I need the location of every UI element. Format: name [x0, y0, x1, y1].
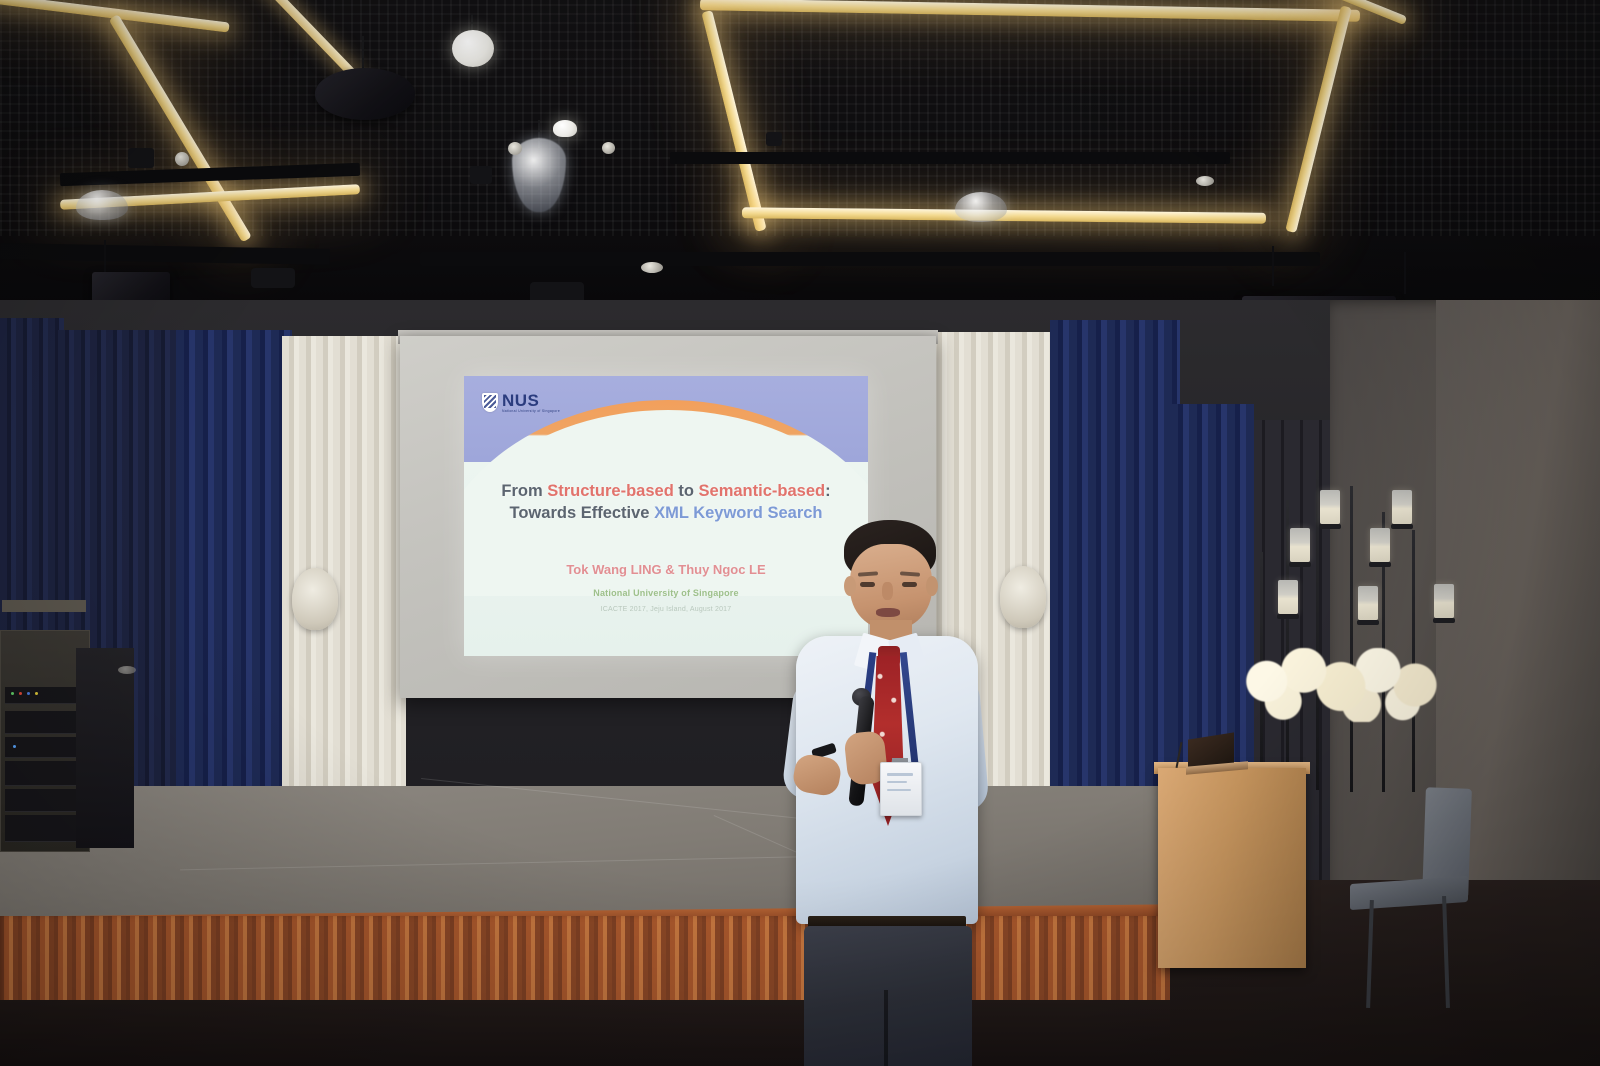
- rack-unit: [5, 761, 81, 786]
- spotlight-lens: [175, 152, 189, 166]
- candelabra-stem: [1286, 500, 1289, 790]
- presenter-ear: [926, 576, 938, 596]
- spotlight-lens: [641, 262, 663, 273]
- stage-spotlight: [470, 166, 492, 184]
- candelabra-glass-cylinder: [1434, 584, 1454, 618]
- presenter-ear: [844, 576, 856, 596]
- speaker-pod-rod: [362, 36, 364, 72]
- candelabra-cup: [1433, 618, 1455, 623]
- spotlight-lens: [602, 142, 615, 154]
- trouser-leg-seam: [884, 990, 888, 1066]
- curtain-tieback-right: [1000, 566, 1046, 628]
- crystal-dome-light: [76, 190, 128, 220]
- candelabra-cup: [1319, 524, 1341, 529]
- presenter-mouth: [876, 608, 900, 617]
- slide-title: From Structure-based to Semantic-based: …: [464, 480, 868, 525]
- badge-text-line: [887, 781, 907, 783]
- nus-sublabel: National University of Singapore: [502, 409, 560, 413]
- title-from: From: [501, 482, 547, 500]
- rack-top-shelf: [2, 600, 86, 612]
- rack-unit: [5, 789, 81, 812]
- nus-shield-icon: [482, 393, 498, 412]
- candelabra-cup: [1391, 524, 1413, 529]
- stage-spotlight: [766, 132, 782, 146]
- status-led: [13, 745, 16, 748]
- stage-spotlight: [251, 268, 295, 288]
- candelabra-glass-cylinder: [1392, 490, 1412, 524]
- badge-text-line: [887, 773, 913, 776]
- rack-unit: [5, 815, 81, 842]
- crystal-dome-light: [955, 192, 1007, 222]
- candelabra-cup: [1289, 562, 1311, 567]
- presenter-eye: [902, 582, 917, 587]
- candelabra-cup: [1369, 562, 1391, 567]
- rigging-wire: [104, 240, 106, 274]
- spotlight-lens: [508, 142, 522, 155]
- title-semantic-based: Semantic-based: [699, 482, 826, 500]
- title-to: to: [674, 482, 699, 500]
- cabinet-label: [118, 666, 136, 674]
- curtain-blue-right: [1050, 320, 1180, 820]
- badge-text-line: [887, 789, 911, 791]
- title-structure-based: Structure-based: [547, 482, 674, 500]
- ceiling-speaker-pod: [315, 68, 415, 120]
- nus-wordmark: NUS: [502, 392, 560, 409]
- presenter: [788, 520, 984, 1066]
- curtain-tieback-left: [292, 568, 338, 630]
- stage-spotlight: [128, 148, 154, 168]
- flower-arrangement: [1242, 648, 1448, 722]
- status-led: [27, 692, 30, 695]
- nus-logo: NUS National University of Singapore: [482, 392, 560, 413]
- candelabra-glass-cylinder: [1290, 528, 1310, 562]
- candelabra-glass-cylinder: [1320, 490, 1340, 524]
- rack-unit: [5, 711, 81, 734]
- lighting-truss-bar: [670, 152, 1230, 164]
- status-led: [11, 692, 14, 695]
- candelabra-glass-cylinder: [1370, 528, 1390, 562]
- candelabra-stem: [1316, 470, 1319, 790]
- candelabra-glass-cylinder: [1278, 580, 1298, 614]
- curtain-blue-left: [176, 330, 292, 830]
- status-led: [19, 692, 22, 695]
- presenter-nose: [882, 582, 893, 600]
- name-badge: [880, 762, 922, 816]
- av-cabinet: [76, 648, 134, 848]
- presentation-photo: NUS National University of Singapore Fro…: [0, 0, 1600, 1066]
- rigging-wire: [1272, 246, 1274, 286]
- lighting-truss-bar: [420, 252, 1320, 266]
- presenter-trousers: [804, 926, 972, 1066]
- candelabra-glass-cylinder: [1358, 586, 1378, 620]
- globe-light: [553, 120, 577, 137]
- globe-light: [452, 30, 494, 67]
- status-led: [35, 692, 38, 695]
- title-colon: :: [825, 482, 831, 500]
- presenter-eye: [860, 582, 875, 587]
- title-towards-effective: Towards Effective: [510, 504, 655, 522]
- rigging-wire: [1404, 252, 1406, 294]
- rack-unit: [5, 687, 81, 704]
- podium-lectern[interactable]: [1158, 768, 1306, 968]
- spotlight-lens: [1196, 176, 1214, 186]
- candelabra-cup: [1277, 614, 1299, 619]
- candelabra-cup: [1357, 620, 1379, 625]
- rack-unit: [5, 737, 81, 758]
- candelabra-stem: [1350, 486, 1353, 792]
